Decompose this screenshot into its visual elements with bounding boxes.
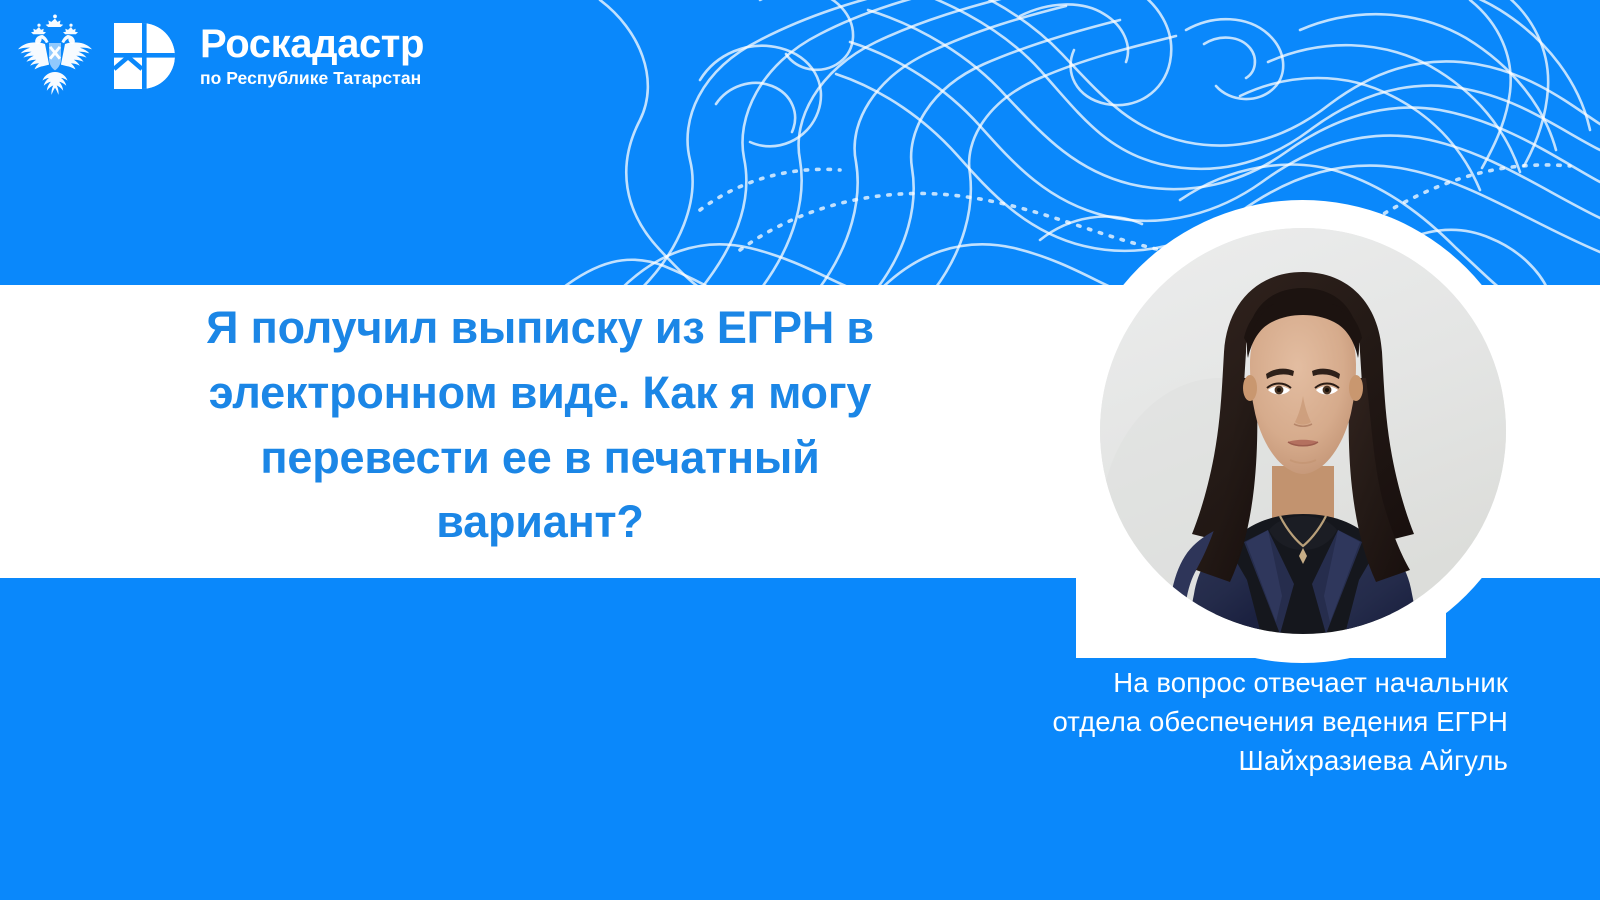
headline-line-1: Я получил выписку из ЕГРН в xyxy=(60,296,1020,361)
caption-line-3: Шайхразиева Айгуль xyxy=(988,741,1508,780)
avatar xyxy=(1100,228,1506,634)
brand-logo[interactable]: Роскадастр по Республике Татарстан xyxy=(18,14,424,98)
caption-line-1: На вопрос отвечает начальник xyxy=(988,663,1508,702)
caption-line-2: отдела обеспечения ведения ЕГРН xyxy=(988,702,1508,741)
page-title: Я получил выписку из ЕГРН в электронном … xyxy=(60,296,1020,555)
brand-text: Роскадастр по Республике Татарстан xyxy=(200,24,424,89)
headline-line-4: вариант? xyxy=(60,490,1020,555)
roskadastr-emblem-icon xyxy=(106,17,184,95)
russian-double-headed-eagle-icon xyxy=(18,14,92,98)
answerer-caption: На вопрос отвечает начальник отдела обес… xyxy=(988,663,1508,780)
headline-line-3: перевести ее в печатный xyxy=(60,426,1020,491)
headline-line-2: электронном виде. Как я могу xyxy=(60,361,1020,426)
brand-name: Роскадастр xyxy=(200,24,424,66)
brand-subtitle: по Республике Татарстан xyxy=(200,68,424,88)
slide-canvas: Роскадастр по Республике Татарстан Я пол… xyxy=(0,0,1600,900)
